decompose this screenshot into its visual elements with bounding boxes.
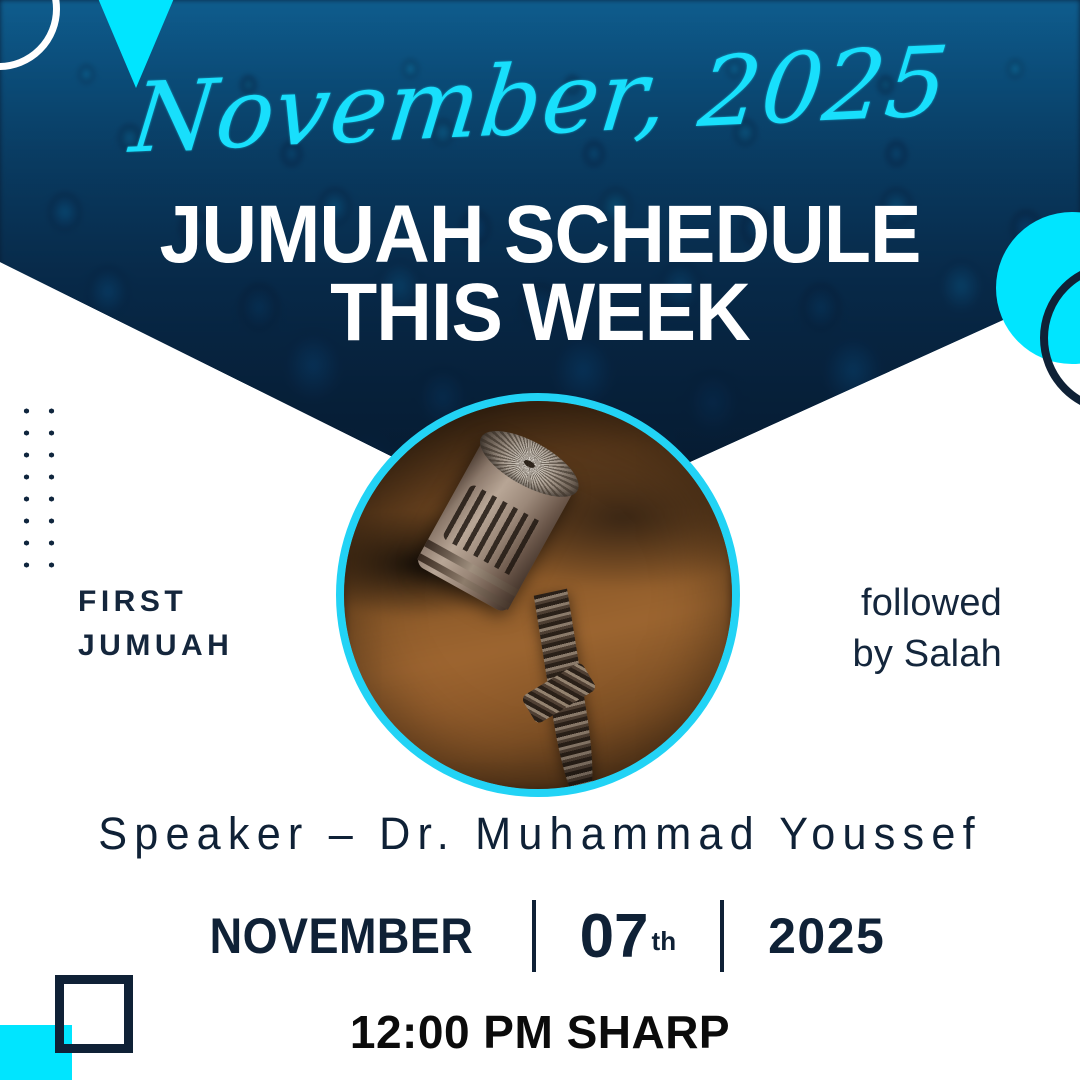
page-title: JUMUAH SCHEDULE THIS WEEK [32,196,1047,352]
followed-line-2: by Salah [702,629,1002,680]
date-year: 2025 [768,907,885,965]
headline-line-2: THIS WEEK [32,274,1047,352]
headline-line-1: JUMUAH SCHEDULE [32,196,1047,274]
first-jumuah-line-1: FIRST [78,580,378,624]
followed-by-salah-label: followed by Salah [702,578,1002,681]
time-text: 12:00 PM SHARP [0,1005,1080,1059]
followed-line-1: followed [702,578,1002,629]
microphone-vignette [344,401,732,789]
poster-canvas: November, 2025 JUMUAH SCHEDULE THIS WEEK… [0,0,1080,1080]
date-day: 07 [580,902,649,971]
date-divider-right [720,900,724,972]
date-month: NOVEMBER [209,907,473,965]
dot-grid-icon [12,398,68,576]
date-row: NOVEMBER 07th 2025 [0,900,1080,972]
date-day-group: 07th [580,901,677,972]
speaker-line: Speaker – Dr. Muhammad Youssef [22,808,1059,860]
date-divider-left [532,900,536,972]
first-jumuah-label: FIRST JUMUAH [78,580,378,667]
microphone-photo [336,393,740,797]
date-day-suffix: th [652,926,677,956]
first-jumuah-line-2: JUMUAH [78,624,378,668]
